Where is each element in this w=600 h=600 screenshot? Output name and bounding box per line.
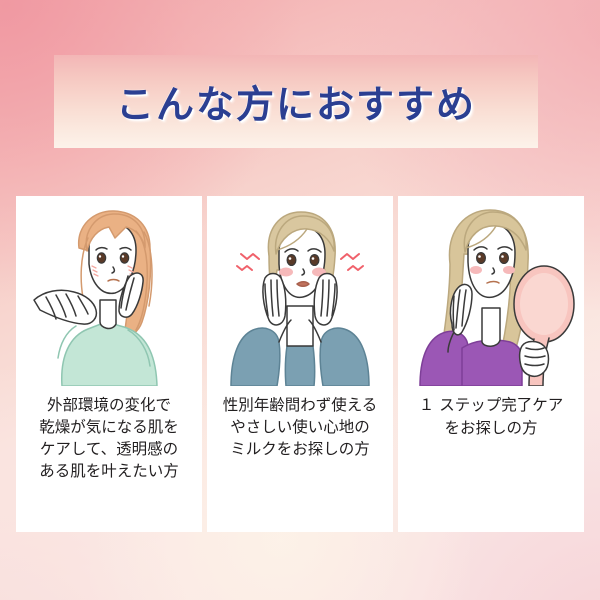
illustration-woman-touching-cheek [16, 196, 202, 386]
illustration-woman-hands-on-cheeks [207, 196, 393, 386]
card-one-step[interactable]: １ ステップ完了ケア をお探しの方 [398, 196, 584, 532]
card-all-ages[interactable]: 性別年齢問わず使える やさしい使い心地の ミルクをお探しの方 [207, 196, 393, 532]
card-caption: 外部環境の変化で 乾燥が気になる肌を ケアして、透明感の ある肌を叶えたい方 [21, 394, 197, 482]
title-banner: こんな方におすすめ [54, 55, 538, 148]
page-title: こんな方におすすめ [54, 73, 538, 128]
illustration-woman-with-hand-mirror [398, 196, 584, 386]
card-caption: １ ステップ完了ケア をお探しの方 [403, 394, 579, 440]
card-list: 外部環境の変化で 乾燥が気になる肌を ケアして、透明感の ある肌を叶えたい方 [16, 196, 584, 532]
promo-banner-page: こんな方におすすめ [0, 0, 600, 600]
card-caption: 性別年齢問わず使える やさしい使い心地の ミルクをお探しの方 [212, 394, 388, 460]
card-dryness[interactable]: 外部環境の変化で 乾燥が気になる肌を ケアして、透明感の ある肌を叶えたい方 [16, 196, 202, 532]
